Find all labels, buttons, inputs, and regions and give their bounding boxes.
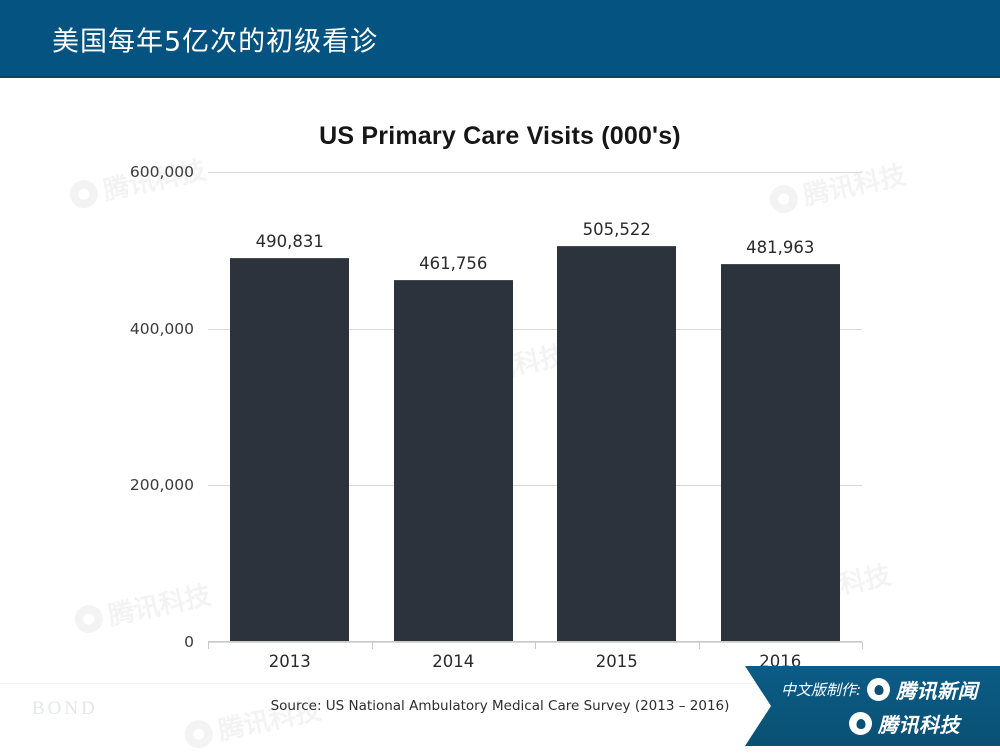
gridline: 600,000 (208, 172, 862, 173)
credit-row-tech: 腾讯科技 (781, 706, 1000, 740)
credit-prefix-label: 中文版制作: (781, 679, 861, 700)
slide-body: 腾讯科技 腾讯科技 腾讯科技 腾讯科技 腾讯科技 腾讯科技 US Primary… (0, 78, 1000, 746)
y-axis-tick-label: 400,000 (130, 320, 194, 338)
x-axis-category-label: 2013 (269, 652, 311, 671)
y-axis-tick-label: 0 (184, 633, 194, 651)
credit-row-news: 中文版制作: 腾讯新闻 (781, 672, 1000, 706)
bar-chart-plot-area: 0200,000400,000600,000 490,8312013461,75… (208, 172, 862, 642)
credit-name-tech: 腾讯科技 (878, 709, 960, 738)
watermark-tencent-tech: 腾讯科技 (71, 575, 214, 640)
bar-value-label: 481,963 (746, 238, 814, 257)
bond-logo: BOND (32, 698, 98, 720)
credit-name-news: 腾讯新闻 (896, 675, 978, 704)
x-axis-category-label: 2014 (432, 652, 474, 671)
chart-title: US Primary Care Visits (000's) (0, 122, 1000, 151)
bar-value-label: 461,756 (419, 254, 487, 273)
watermark-tencent-tech: 腾讯科技 (66, 150, 209, 215)
tencent-news-logo-icon (867, 678, 890, 701)
bar[interactable]: 481,9632016 (721, 264, 840, 642)
x-axis-tickmark (699, 642, 700, 649)
x-axis-category-label: 2015 (596, 652, 638, 671)
credit-banner: 中文版制作: 腾讯新闻 腾讯科技 (745, 666, 1000, 746)
page-title: 美国每年5亿次的初级看诊 (52, 20, 378, 59)
x-axis-tickmark (535, 642, 536, 649)
x-axis-tickmark (372, 642, 373, 649)
x-axis-tickmark (208, 642, 209, 649)
bar-value-label: 490,831 (256, 232, 324, 251)
bar-value-label: 505,522 (583, 220, 651, 239)
y-axis-tick-label: 600,000 (130, 163, 194, 181)
tencent-tech-logo-icon (849, 712, 872, 735)
bar[interactable]: 490,8312013 (230, 258, 349, 642)
slide-header-band: 美国每年5亿次的初级看诊 (0, 0, 1000, 78)
x-axis-tickmark (862, 642, 863, 649)
tencent-circle-logo-icon (72, 602, 105, 635)
y-axis-tick-label: 200,000 (130, 476, 194, 494)
tencent-circle-logo-icon (182, 717, 215, 750)
bar[interactable]: 505,5222015 (557, 246, 676, 642)
tencent-circle-logo-icon (67, 177, 100, 210)
bar[interactable]: 461,7562014 (394, 280, 513, 642)
